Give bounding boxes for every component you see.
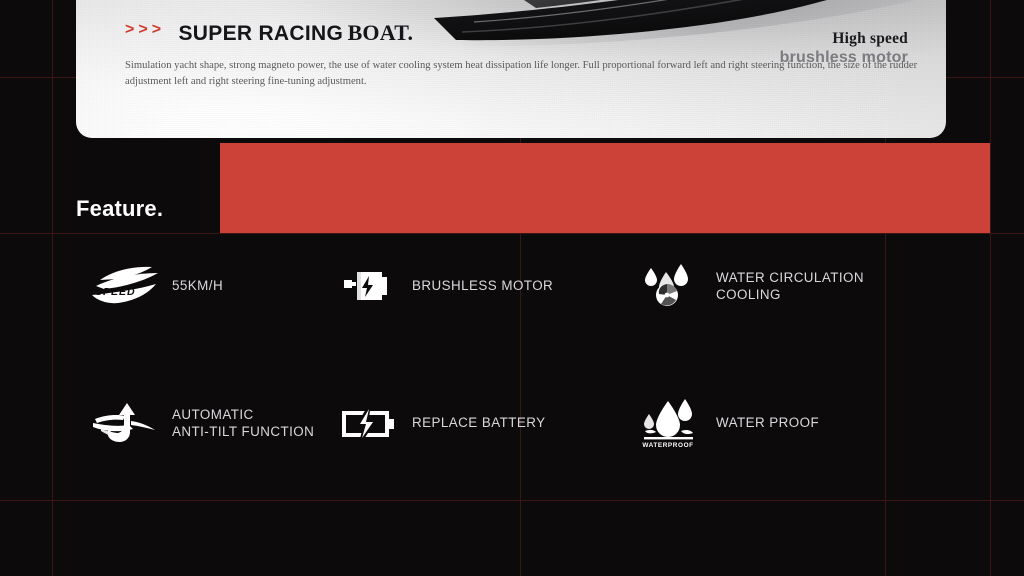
feature-label: REPLACE BATTERY [412,414,546,431]
feature-section-heading: Feature. [76,196,163,222]
feature-item-brushless-motor: BRUSHLESS MOTOR [320,262,620,310]
waterproof-icon-caption: WATERPROOF [642,442,693,448]
title-primary: SUPER RACING [178,22,343,45]
feature-row: AUTOMATIC ANTI-TILT FUNCTION REPLACE BAT… [0,398,1024,448]
feature-label: BRUSHLESS MOTOR [412,277,553,294]
waterproof-droplet-icon: WATERPROOF [630,398,710,448]
feature-item-water-circulation: WATER CIRCULATION COOLING [620,262,940,310]
feature-label: WATER CIRCULATION COOLING [716,269,864,303]
speed-icon-caption: SPEED [95,286,136,298]
tagline-line-1: High speed [780,30,908,48]
tagline-line-2: brushless motor [780,49,908,67]
anti-tilt-arrow-icon [86,399,166,447]
brushless-motor-icon [330,266,408,306]
red-accent-band [220,143,990,233]
feature-item-water-proof: WATERPROOF WATER PROOF [620,398,940,448]
hero-panel: MOTOR >>> SUPER RACING BOAT. Simulation … [76,0,946,138]
feature-label: AUTOMATIC ANTI-TILT FUNCTION [172,406,314,440]
hero-tagline: High speed brushless motor [780,30,908,67]
feature-item-anti-tilt: AUTOMATIC ANTI-TILT FUNCTION [0,398,320,448]
feature-grid: SPEED 55KM/H BRUSHLESS MOTOR [0,262,1024,448]
feature-label: WATER PROOF [716,414,819,431]
page-root: MOTOR >>> SUPER RACING BOAT. Simulation … [0,0,1024,576]
feature-label: 55KM/H [172,277,223,294]
chevron-accent: >>> [125,21,165,39]
grid-line-horizontal [0,233,1024,234]
feature-item-speed: SPEED 55KM/H [0,262,320,310]
feature-row: SPEED 55KM/H BRUSHLESS MOTOR [0,262,1024,310]
title-secondary: BOAT. [348,20,414,45]
grid-line-horizontal [0,500,1024,501]
feature-item-replace-battery: REPLACE BATTERY [320,398,620,448]
water-circulation-icon [630,262,710,310]
battery-bolt-icon [330,405,408,441]
speed-boat-icon: SPEED [86,264,166,308]
